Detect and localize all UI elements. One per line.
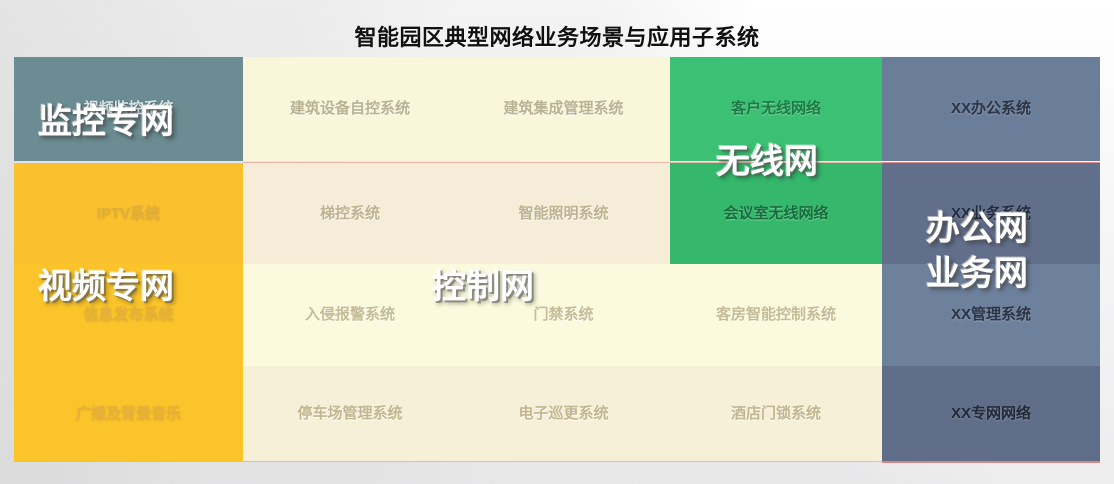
cell-r1c4[interactable]: 客户无线网络 xyxy=(670,57,882,161)
cell-r3c3[interactable]: 门禁系统 xyxy=(457,264,670,366)
cell-r2c1[interactable]: IPTV系统 xyxy=(14,163,243,264)
cell-r3c4[interactable]: 客房智能控制系统 xyxy=(670,264,882,366)
cell-r1c5[interactable]: XX办公系统 xyxy=(882,57,1100,161)
cell-r4c4[interactable]: 酒店门锁系统 xyxy=(670,366,882,461)
bottom-rule-right xyxy=(882,461,1100,463)
cell-r2c2[interactable]: 梯控系统 xyxy=(243,163,457,264)
cell-r4c2[interactable]: 停车场管理系统 xyxy=(243,366,457,461)
network-matrix: 视频监控系统 建筑设备自控系统 建筑集成管理系统 客户无线网络 XX办公系统 I… xyxy=(14,57,1100,463)
cell-r3c5[interactable]: XX管理系统 xyxy=(882,264,1100,366)
cell-r3c1[interactable]: 信息发布系统 xyxy=(14,264,243,366)
cell-r1c3[interactable]: 建筑集成管理系统 xyxy=(457,57,670,161)
cell-r4c5[interactable]: XX专网网络 xyxy=(882,366,1100,461)
page-title: 智能园区典型网络业务场景与应用子系统 xyxy=(0,20,1114,52)
cell-r4c3[interactable]: 电子巡更系统 xyxy=(457,366,670,461)
bottom-rule-left xyxy=(14,461,882,462)
cell-r1c2[interactable]: 建筑设备自控系统 xyxy=(243,57,457,161)
cell-r1c1[interactable]: 视频监控系统 xyxy=(14,57,243,161)
cell-r2c4[interactable]: 会议室无线网络 xyxy=(670,163,882,264)
cell-r3c2[interactable]: 入侵报警系统 xyxy=(243,264,457,366)
cell-r2c5[interactable]: XX业务系统 xyxy=(882,163,1100,264)
cell-r2c3[interactable]: 智能照明系统 xyxy=(457,163,670,264)
cell-r4c1[interactable]: 广播及背景音乐 xyxy=(14,366,243,461)
